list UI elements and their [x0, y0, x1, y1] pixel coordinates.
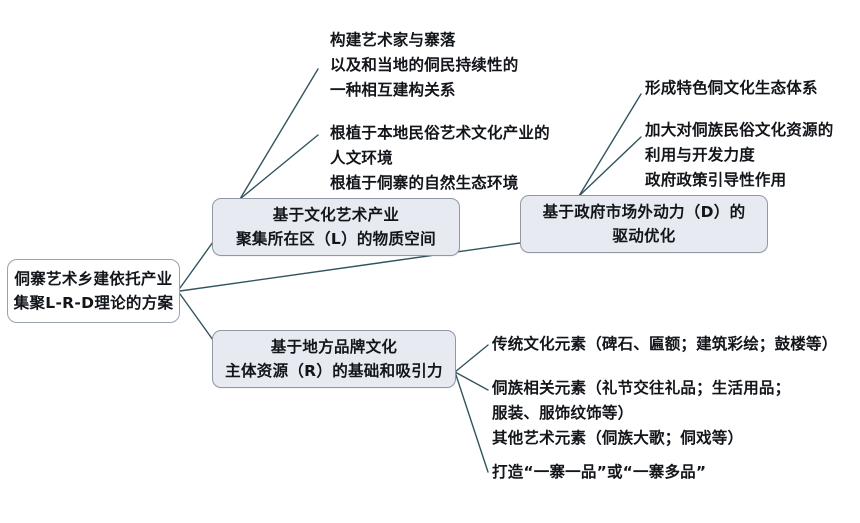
leaf-R-second-line-2: 服装、服饰纹饰等） [492, 401, 790, 426]
leaf-D-top-line-1: 形成特色侗文化生态体系 [645, 76, 818, 101]
connector-L-to-leaf-top [240, 69, 318, 199]
leaf-R-third-line-1: 打造“一寨一品”或“一寨多品” [492, 460, 706, 485]
leaf-D-bottom-line-1: 加大对侗族民俗文化资源的 [645, 118, 833, 143]
diagram-canvas: 侗寨艺术乡建依托产业 集聚L-R-D理论的方案 基于文化艺术产业 聚集所在区（L… [0, 0, 860, 523]
leaf-D-bottom: 加大对侗族民俗文化资源的 利用与开发力度 政府政策引导性作用 [645, 118, 833, 193]
branch-node-D-line-1: 基于政府市场外动力（D）的 [543, 200, 746, 224]
root-node-line-1: 侗寨艺术乡建依托产业 [14, 267, 172, 291]
leaf-L-bottom-line-2: 人文环境 [330, 146, 550, 171]
leaf-L-top-line-1: 构建艺术家与寨落 [330, 28, 518, 53]
root-node[interactable]: 侗寨艺术乡建依托产业 集聚L-R-D理论的方案 [7, 259, 180, 323]
leaf-L-top: 构建艺术家与寨落 以及和当地的侗民持续性的 一种相互建构关系 [330, 28, 518, 103]
leaf-L-top-line-3: 一种相互建构关系 [330, 78, 518, 103]
leaf-D-bottom-line-3: 政府政策引导性作用 [645, 168, 833, 193]
branch-node-D-line-2: 驱动优化 [612, 224, 675, 248]
branch-node-R[interactable]: 基于地方品牌文化 主体资源（R）的基础和吸引力 [212, 330, 456, 388]
connector-root-to-L [180, 242, 213, 288]
connector-root-to-R [180, 294, 213, 340]
connector-R-to-leaf-second [455, 372, 488, 390]
connector-R-to-leaf-third [455, 372, 488, 472]
branch-node-R-line-2: 主体资源（R）的基础和吸引力 [225, 359, 443, 383]
leaf-D-bottom-line-2: 利用与开发力度 [645, 143, 833, 168]
branch-node-L-line-1: 基于文化艺术产业 [273, 203, 399, 227]
leaf-R-second-line-3: 其他艺术元素（侗族大歌；侗戏等） [492, 426, 790, 451]
leaf-L-bottom-line-3: 根植于侗寨的自然生态环境 [330, 171, 550, 196]
connector-D-to-leaf-top [579, 94, 641, 196]
connector-L-to-leaf-bottom [240, 135, 318, 199]
branch-node-L-line-2: 聚集所在区（L）的物质空间 [236, 227, 436, 251]
branch-node-L[interactable]: 基于文化艺术产业 聚集所在区（L）的物质空间 [212, 198, 460, 256]
leaf-L-bottom-line-1: 根植于本地民俗艺术文化产业的 [330, 121, 550, 146]
leaf-L-bottom: 根植于本地民俗艺术文化产业的 人文环境 根植于侗寨的自然生态环境 [330, 121, 550, 196]
root-node-line-2: 集聚L-R-D理论的方案 [14, 291, 174, 315]
leaf-R-first: 传统文化元素（碑石、匾额；建筑彩绘；鼓楼等） [492, 332, 837, 357]
leaf-R-second: 侗族相关元素（礼节交往礼品；生活用品； 服装、服饰纹饰等） 其他艺术元素（侗族大… [492, 376, 790, 451]
connector-R-to-leaf-first [455, 345, 488, 372]
branch-node-R-line-1: 基于地方品牌文化 [271, 335, 397, 359]
leaf-D-top: 形成特色侗文化生态体系 [645, 76, 818, 101]
leaf-L-top-line-2: 以及和当地的侗民持续性的 [330, 53, 518, 78]
leaf-R-first-line-1: 传统文化元素（碑石、匾额；建筑彩绘；鼓楼等） [492, 332, 837, 357]
leaf-R-third: 打造“一寨一品”或“一寨多品” [492, 460, 706, 485]
leaf-R-second-line-1: 侗族相关元素（礼节交往礼品；生活用品； [492, 376, 790, 401]
branch-node-D[interactable]: 基于政府市场外动力（D）的 驱动优化 [520, 195, 768, 253]
connector-D-to-leaf-bottom [579, 137, 641, 196]
